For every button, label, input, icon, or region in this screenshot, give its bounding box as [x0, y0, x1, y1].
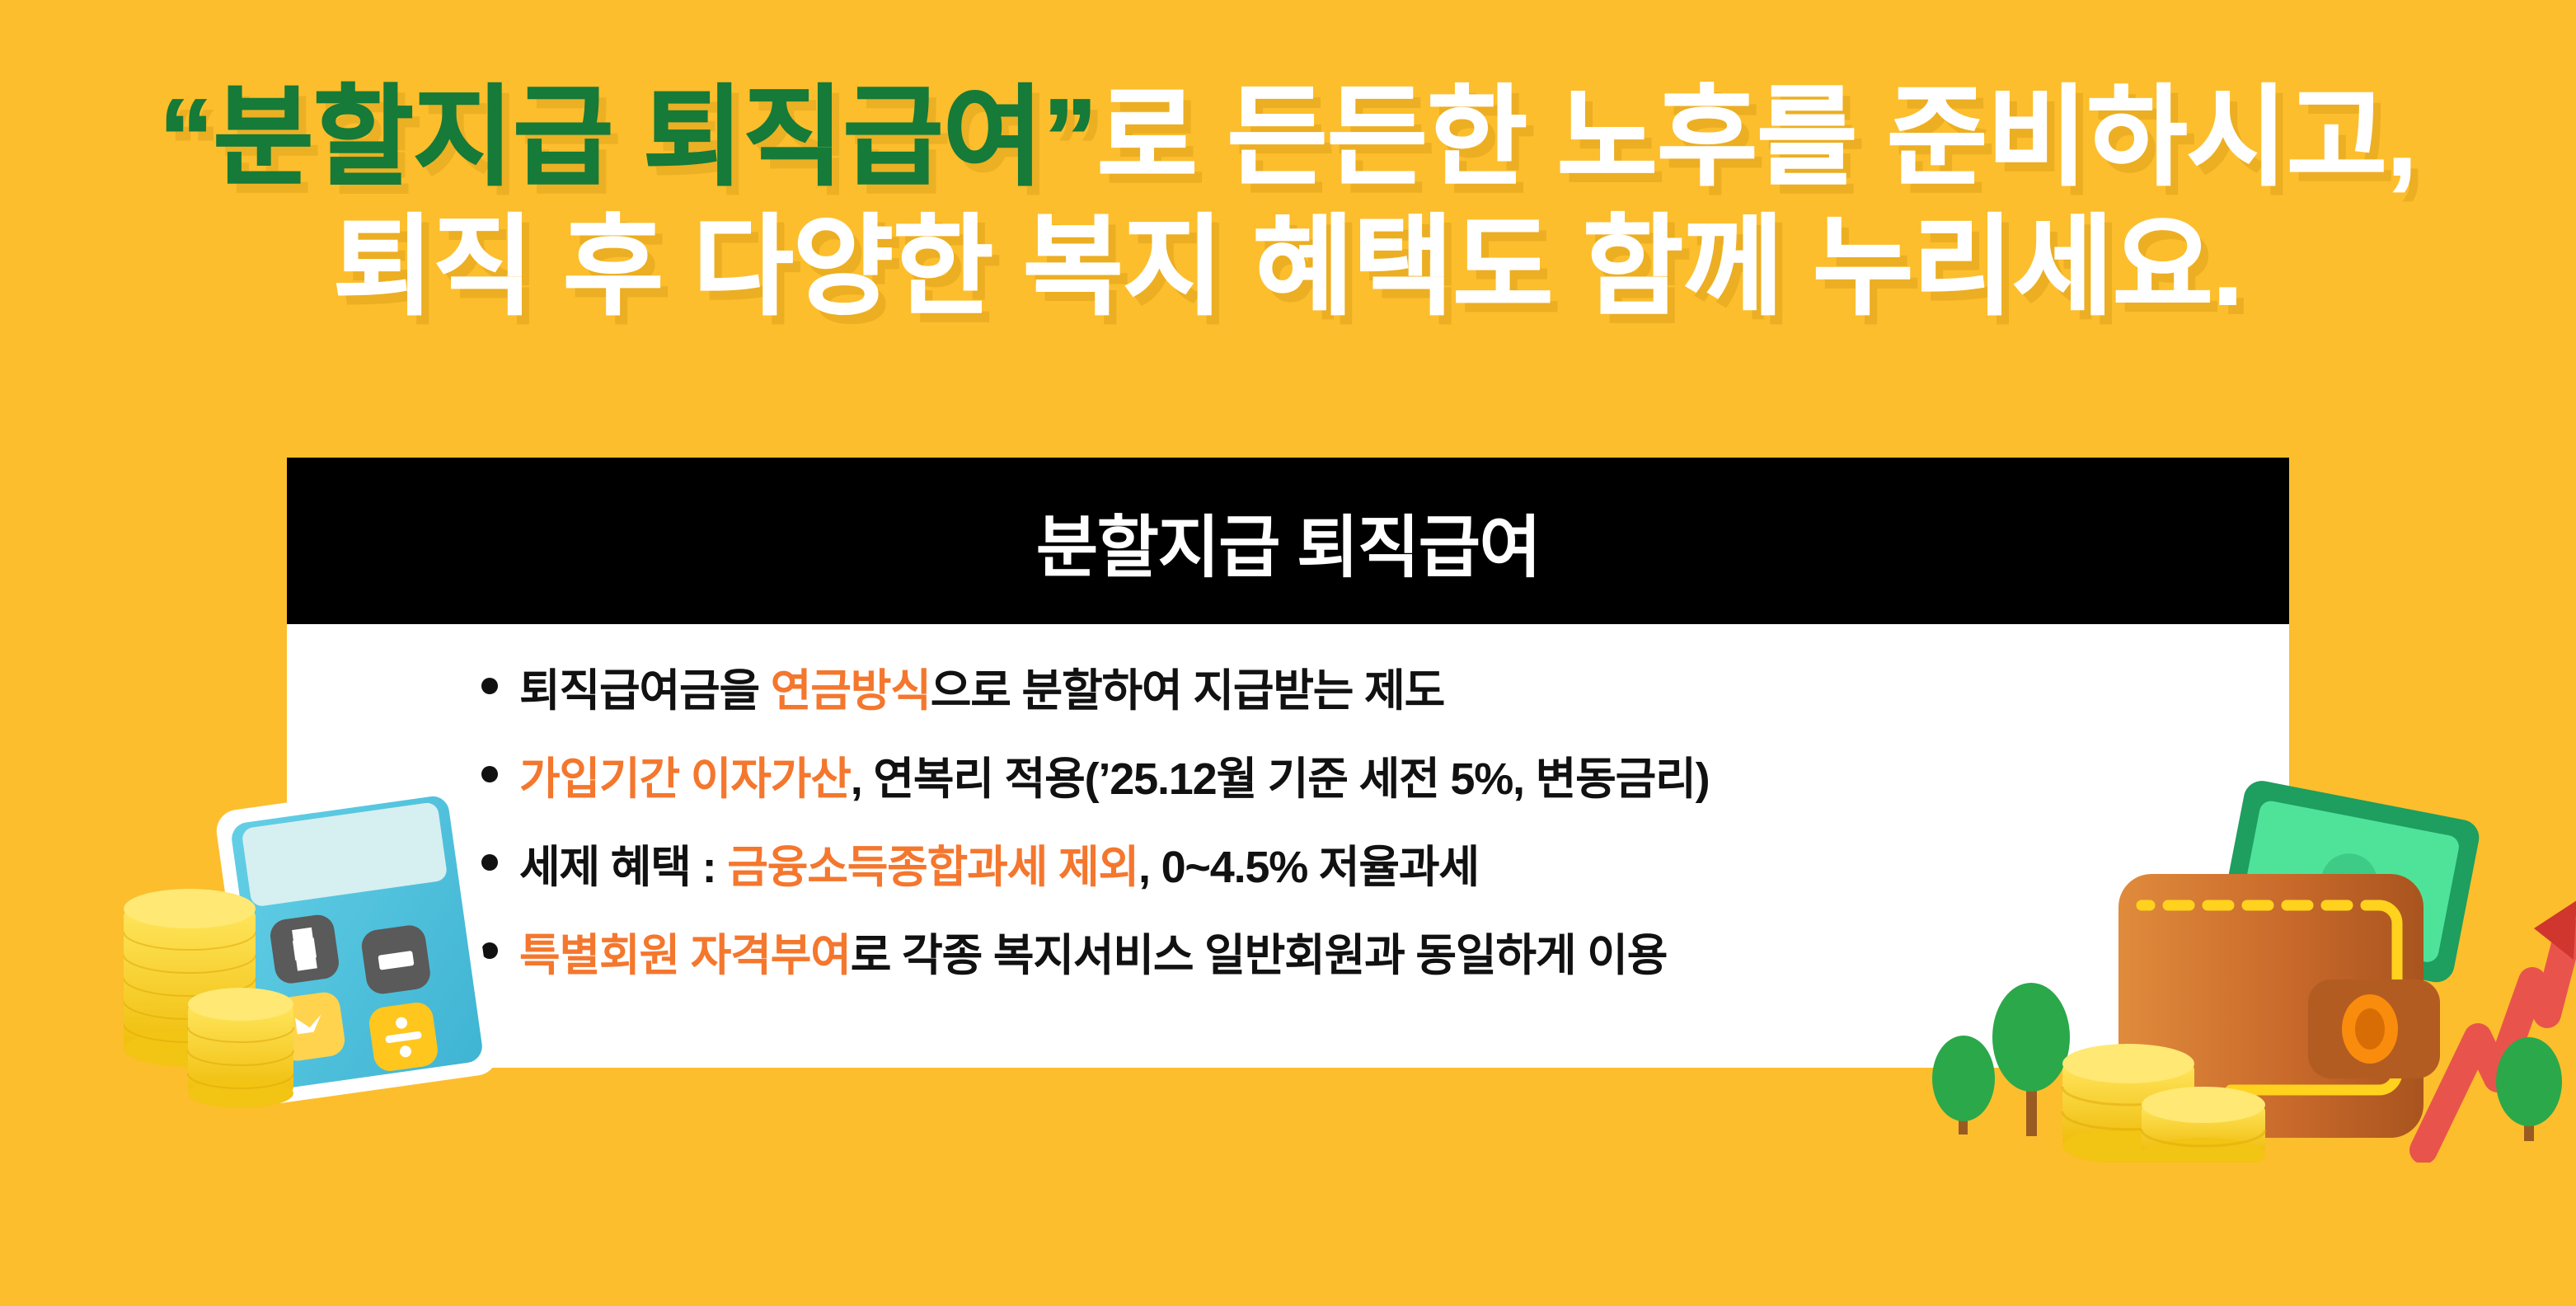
headline: “분할지급 퇴직급여”로 든든한 노후를 준비하시고, 퇴직 후 다양한 복지 …: [0, 79, 2576, 326]
text-pre: 세제 혜택 :: [519, 843, 727, 892]
text-highlight: 금융소득종합과세 제외: [727, 843, 1138, 892]
quote-close: ”: [1043, 77, 1097, 198]
coin-stack-right-short: [2142, 1087, 2265, 1163]
text-highlight: 연금방식: [771, 666, 931, 716]
text-post: 로 각종 복지서비스 일반회원과 동일하게 이용: [851, 931, 1667, 980]
headline-line-1: “분할지급 퇴직급여”로 든든한 노후를 준비하시고,: [0, 79, 2576, 197]
list-item-text: 특별회원 자격부여로 각종 복지서비스 일반회원과 동일하게 이용: [519, 918, 1667, 984]
text-post: , 연복리 적용(’25.12월 기준 세전 5%, 변동금리): [851, 754, 1710, 804]
tree-right: [2496, 1037, 2562, 1141]
text-post: , 0~4.5% 저율과세: [1138, 843, 1479, 892]
text-post: 으로 분할하여 지급받는 제도: [931, 666, 1444, 716]
wallet-icon: [1921, 775, 2576, 1163]
tree-small-left: [1932, 1036, 1995, 1135]
bullet-dot-icon: [481, 678, 498, 694]
text-highlight: 가입기간 이자가산: [519, 754, 851, 804]
list-item-text: 퇴직급여금을 연금방식으로 분할하여 지급받는 제도: [519, 654, 1444, 719]
calculator-icon: [124, 767, 511, 1121]
text-highlight: 특별회원 자격부여: [519, 931, 851, 980]
text-pre: 퇴직급여금을: [519, 666, 771, 716]
card-title: 분할지급 퇴직급여: [1036, 492, 1541, 590]
list-item: 퇴직급여금을 연금방식으로 분할하여 지급받는 제도: [287, 654, 2289, 742]
quote-open: “: [159, 77, 213, 198]
wallet-and-growth-illustration: [1921, 775, 2576, 1163]
headline-line-1-rest: 로 든든한 노후를 준비하시고,: [1097, 77, 2417, 198]
coin-stack-short: [188, 988, 293, 1108]
headline-line-2: 퇴직 후 다양한 복지 혜택도 함께 누리세요.: [0, 209, 2576, 326]
headline-highlight: 분할지급 퇴직급여: [213, 77, 1043, 198]
list-item-text: 가입기간 이자가산, 연복리 적용(’25.12월 기준 세전 5%, 변동금리…: [519, 742, 1709, 807]
calculator-and-coins-illustration: [124, 767, 511, 1121]
card-header: 분할지급 퇴직급여: [287, 458, 2289, 624]
list-item-text: 세제 혜택 : 금융소득종합과세 제외, 0~4.5% 저율과세: [519, 830, 1479, 895]
tree-large-left: [1992, 983, 2070, 1136]
promo-banner: “분할지급 퇴직급여”로 든든한 노후를 준비하시고, 퇴직 후 다양한 복지 …: [0, 0, 2576, 1306]
